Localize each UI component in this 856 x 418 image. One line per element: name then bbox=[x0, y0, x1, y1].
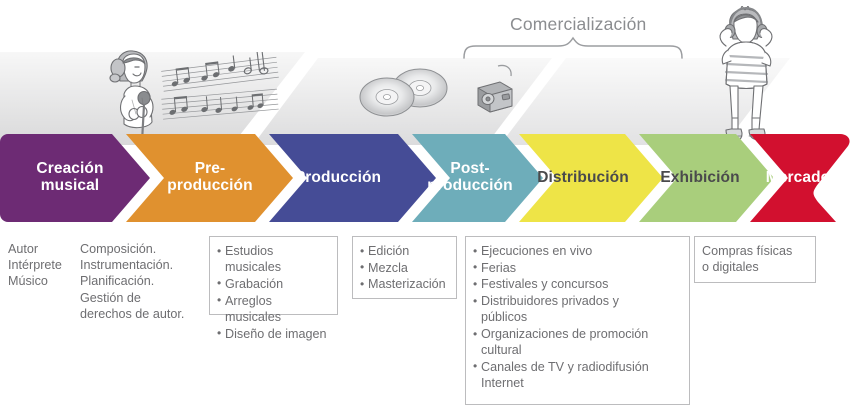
chevron-label-creacion-musical: Creación musical bbox=[20, 160, 120, 194]
details-comercializacion: Ejecuciones en vivo Ferias Festivales y … bbox=[465, 236, 690, 405]
list-item: Estudios musicales bbox=[217, 243, 330, 275]
detail-line: Gestión de bbox=[80, 290, 202, 306]
list-item: Festivales y concursos bbox=[473, 276, 682, 292]
detail-line: Intérprete bbox=[8, 257, 78, 273]
detail-line: derechos de autor. bbox=[80, 306, 202, 322]
chevron-label-exhibicion: Exhibición bbox=[640, 169, 760, 186]
list-item: Ejecuciones en vivo bbox=[473, 243, 682, 259]
details-creacion-musical: Autor Intérprete Músico bbox=[8, 241, 78, 290]
musical-notes-staff-illustration bbox=[160, 52, 285, 122]
detail-line: Autor bbox=[8, 241, 78, 257]
chevron-label-produccion: Producción bbox=[272, 169, 404, 186]
list-item: Diseño de imagen bbox=[217, 326, 330, 342]
detail-line: o digitales bbox=[702, 259, 808, 275]
list-item: Distribuidores privados y públicos bbox=[473, 293, 682, 325]
chevron-label-distribucion: Distribución bbox=[520, 169, 646, 186]
music-industry-value-chain-diagram: Comercialización Creación musical Pre- p… bbox=[0, 0, 856, 418]
detail-line: Composición. bbox=[80, 241, 202, 257]
detail-line: Compras físicas bbox=[702, 243, 808, 259]
chevron-label-mercado: Mercado bbox=[748, 169, 848, 186]
comercializacion-bracket-label: Comercialización bbox=[510, 14, 646, 35]
comercializacion-bracket bbox=[462, 36, 684, 60]
chevron-label-post-produccion: Post- producción bbox=[418, 160, 522, 194]
mp3-player-illustration bbox=[462, 62, 518, 118]
details-produccion: Estudios musicales Grabación Arreglos mu… bbox=[209, 236, 338, 315]
detail-line: Músico bbox=[8, 273, 78, 289]
list-item: Grabación bbox=[217, 276, 330, 292]
list-item: Edición bbox=[360, 243, 449, 259]
detail-line: Instrumentación. bbox=[80, 257, 202, 273]
detail-list: Ejecuciones en vivo Ferias Festivales y … bbox=[473, 243, 682, 391]
details-pre-produccion: Composición. Instrumentación. Planificac… bbox=[80, 241, 202, 322]
detail-list: Estudios musicales Grabación Arreglos mu… bbox=[217, 243, 330, 342]
list-item: Organizaciones de promoción cultural bbox=[473, 326, 682, 358]
details-post-produccion: Edición Mezcla Masterización bbox=[352, 236, 457, 299]
boy-with-headphones-illustration bbox=[704, 6, 786, 148]
detail-list: Edición Mezcla Masterización bbox=[360, 243, 449, 293]
singer-with-microphone-illustration bbox=[98, 48, 168, 144]
compact-discs-illustration bbox=[356, 66, 460, 118]
detail-line: Planificación. bbox=[80, 273, 202, 289]
list-item: Mezcla bbox=[360, 260, 449, 276]
list-item: Masterización bbox=[360, 276, 449, 292]
list-item: Arreglos musicales bbox=[217, 293, 330, 325]
details-mercado: Compras físicas o digitales bbox=[694, 236, 816, 283]
chevron-label-pre-produccion: Pre- producción bbox=[158, 160, 262, 194]
list-item: Ferias bbox=[473, 260, 682, 276]
list-item: Canales de TV y radiodifusión Internet bbox=[473, 359, 682, 391]
